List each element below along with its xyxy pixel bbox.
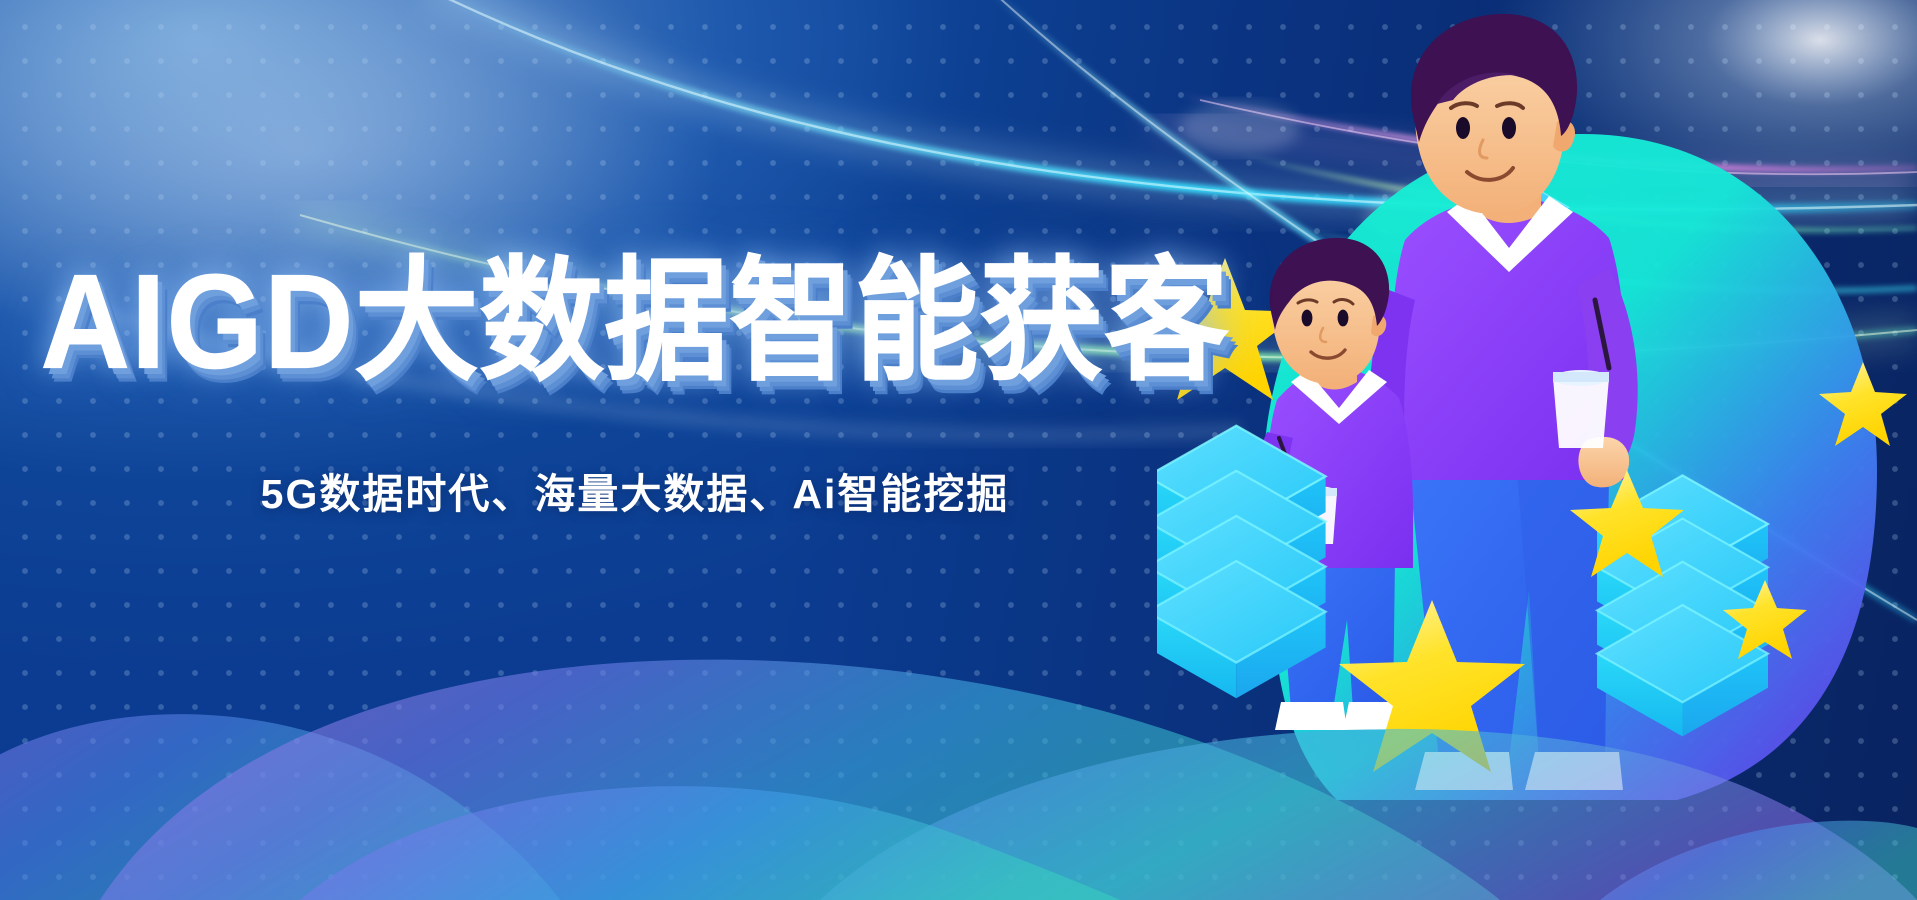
banner-subtitle: 5G数据时代、海量大数据、Ai智能挖掘 <box>0 460 1270 520</box>
banner-text-block: AIGD大数据智能获客 5G数据时代、海量大数据、Ai智能挖掘 <box>0 252 1270 520</box>
star-edge-right <box>1817 350 1917 450</box>
banner-title: AIGD大数据智能获客 <box>0 252 1270 393</box>
promo-banner: AIGD大数据智能获客 5G数据时代、海量大数据、Ai智能挖掘 <box>0 0 1917 900</box>
bottom-hills <box>0 570 1917 900</box>
